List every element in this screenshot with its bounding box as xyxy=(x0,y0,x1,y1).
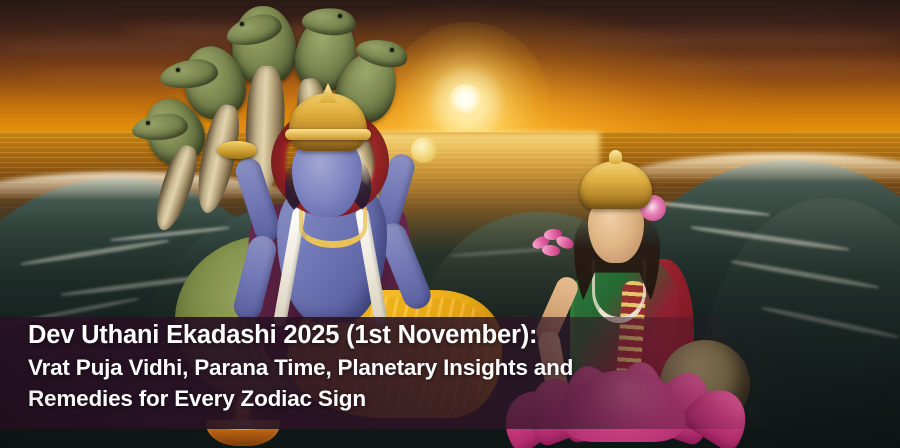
sudarshana-chakra-icon xyxy=(217,141,257,159)
banner-headline: Dev Uthani Ekadashi 2025 (1st November):… xyxy=(28,318,688,414)
serpent-eye xyxy=(338,14,342,18)
article-hero-banner[interactable]: Dev Uthani Ekadashi 2025 (1st November):… xyxy=(0,0,900,448)
lakshmi-crown-tip xyxy=(609,150,622,164)
serpent-eye xyxy=(390,48,394,52)
headline-line-1: Dev Uthani Ekadashi 2025 (1st November): xyxy=(28,318,688,352)
cloud-streak xyxy=(560,34,900,47)
serpent-eye xyxy=(176,68,180,72)
lotus-petal xyxy=(541,244,560,257)
serpent-eye xyxy=(240,22,244,26)
vishnu-crown-band xyxy=(285,129,371,140)
serpent-eye xyxy=(146,121,150,125)
headline-line-3: Remedies for Every Zodiac Sign xyxy=(28,383,688,414)
lakshmi-crown xyxy=(580,161,652,209)
vishnu-hand-lotus xyxy=(411,137,437,163)
headline-line-2: Vrat Puja Vidhi, Parana Time, Planetary … xyxy=(28,352,688,383)
lotus-in-hand-icon xyxy=(532,227,576,261)
